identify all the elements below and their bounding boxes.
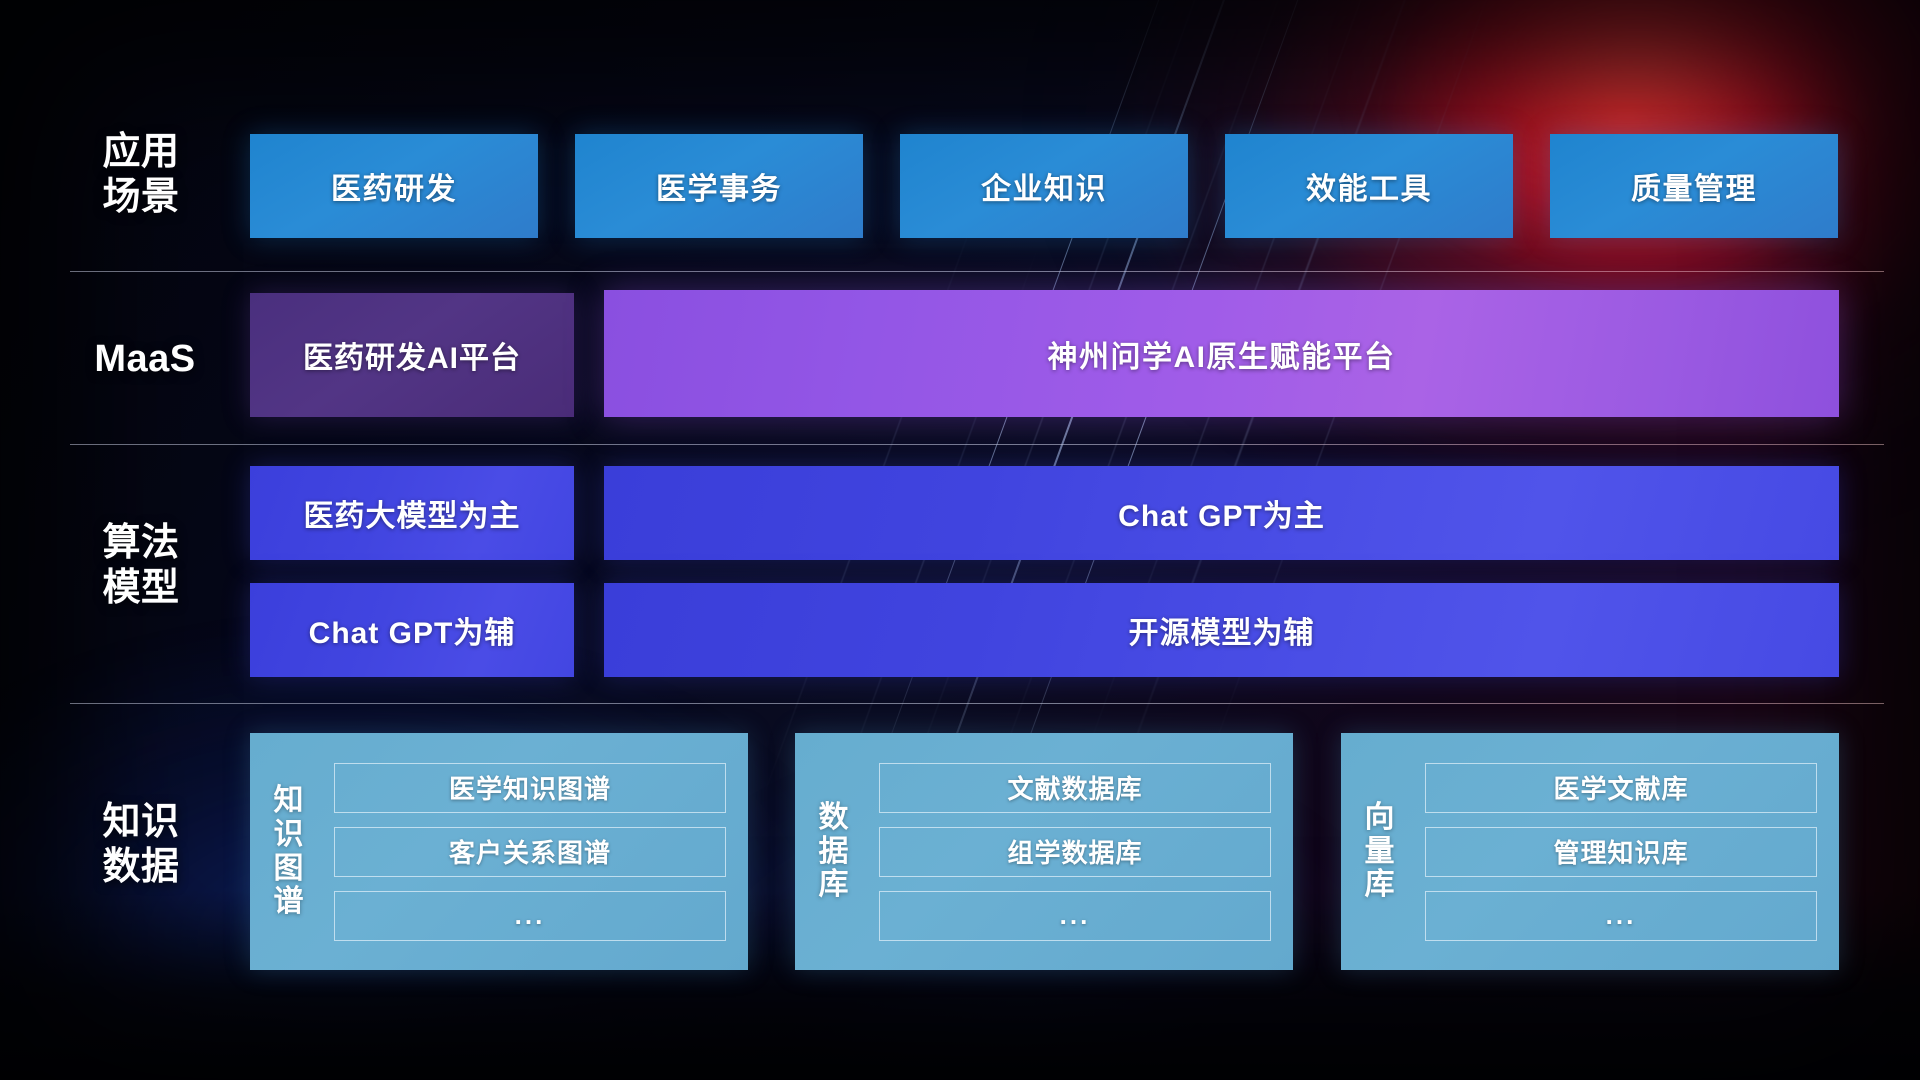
knowledge-item[interactable]: 医学知识图谱 [334,763,726,813]
algorithm-card-opensource-secondary[interactable]: 开源模型为辅 [604,583,1839,677]
row-label-application-scenarios: 应用 场景 [76,130,206,220]
row-label-knowledge-line-1: 知识 [76,800,206,845]
knowledge-panel-vector-store[interactable]: 向 量 库 医学文献库 管理知识库 ... [1341,733,1839,970]
algorithm-card-pharma-llm-primary[interactable]: 医药大模型为主 [250,466,574,560]
row-label-knowledge-line-2: 数据 [76,845,206,890]
panel-title-char-1: 知 [274,784,305,818]
panel-title-char-2: 识 [274,818,305,852]
scenario-card-1[interactable]: 医药研发 [250,134,538,238]
knowledge-item[interactable]: 客户关系图谱 [334,827,726,877]
row-label-algo-line-2: 模型 [76,566,206,611]
row-label-knowledge-data: 知识 数据 [76,800,206,890]
scenario-card-2[interactable]: 医学事务 [575,134,863,238]
knowledge-panel-title-knowledge-graph: 知 识 图 谱 [250,733,328,970]
panel-title-char-2: 量 [1365,835,1396,869]
panel-title-char-3: 库 [819,868,850,902]
panel-title-char-3: 库 [1365,868,1396,902]
row-label-line-1: 应用 [76,130,206,175]
knowledge-panel-title-database: 数 据 库 [795,733,873,970]
scenario-card-4[interactable]: 效能工具 [1225,134,1513,238]
row-label-maas-text: MaaS [60,337,230,382]
knowledge-item[interactable]: 管理知识库 [1425,827,1817,877]
panel-title-char-1: 数 [819,801,850,835]
slide-canvas: 应用 场景 医药研发 医学事务 企业知识 效能工具 质量管理 MaaS 医药研发… [0,0,1920,1080]
scenario-card-5[interactable]: 质量管理 [1550,134,1838,238]
knowledge-panel-knowledge-graph[interactable]: 知 识 图 谱 医学知识图谱 客户关系图谱 ... [250,733,748,970]
row-label-line-2: 场景 [76,175,206,220]
knowledge-panel-title-vector-store: 向 量 库 [1341,733,1419,970]
panel-title-char-3: 图 [274,852,305,886]
knowledge-item[interactable]: 文献数据库 [879,763,1271,813]
knowledge-item[interactable]: 组学数据库 [879,827,1271,877]
algorithm-card-chatgpt-secondary[interactable]: Chat GPT为辅 [250,583,574,677]
row-label-algo-line-1: 算法 [76,521,206,566]
knowledge-item-more[interactable]: ... [879,891,1271,941]
maas-card-shenzhou-wenxue-platform[interactable]: 神州问学AI原生赋能平台 [604,290,1839,417]
knowledge-panel-items-database: 文献数据库 组学数据库 ... [873,733,1293,970]
architecture-diagram: 应用 场景 医药研发 医学事务 企业知识 效能工具 质量管理 MaaS 医药研发… [0,0,1920,1080]
scenario-card-3[interactable]: 企业知识 [900,134,1188,238]
knowledge-item[interactable]: 医学文献库 [1425,763,1817,813]
divider-maas-algorithm [70,444,1884,445]
row-label-algorithm-model: 算法 模型 [76,521,206,611]
row-label-maas: MaaS [60,337,230,382]
knowledge-panel-items-vector-store: 医学文献库 管理知识库 ... [1419,733,1839,970]
divider-scenarios-maas [70,271,1884,272]
knowledge-item-more[interactable]: ... [334,891,726,941]
knowledge-panel-items-knowledge-graph: 医学知识图谱 客户关系图谱 ... [328,733,748,970]
panel-title-char-2: 据 [819,835,850,869]
panel-title-char-1: 向 [1365,801,1396,835]
knowledge-panel-database[interactable]: 数 据 库 文献数据库 组学数据库 ... [795,733,1293,970]
panel-title-char-4: 谱 [274,885,305,919]
knowledge-item-more[interactable]: ... [1425,891,1817,941]
algorithm-card-chatgpt-primary[interactable]: Chat GPT为主 [604,466,1839,560]
maas-card-pharma-ai-platform[interactable]: 医药研发AI平台 [250,293,574,417]
divider-algorithm-knowledge [70,703,1884,704]
